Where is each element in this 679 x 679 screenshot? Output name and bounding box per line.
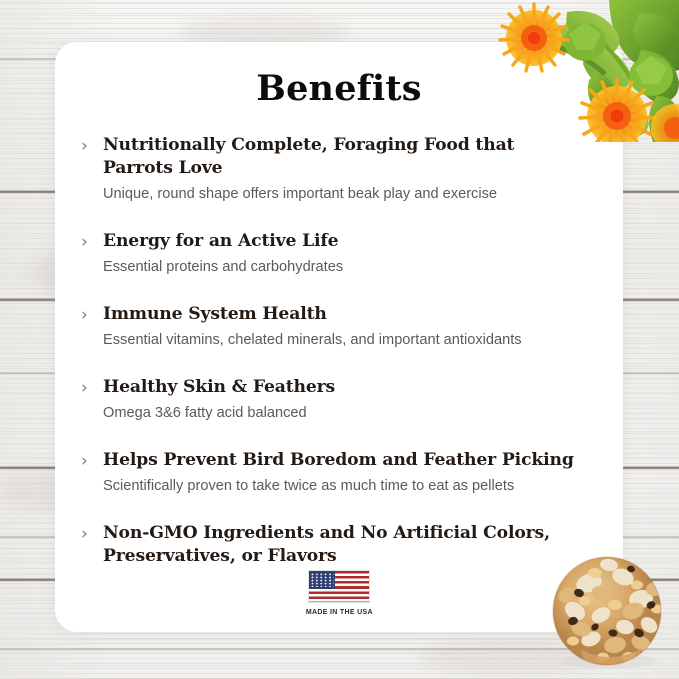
safflower-blossoms-image — [489, 0, 679, 142]
benefit-heading: Non-GMO Ingredients and No Artificial Co… — [103, 522, 589, 568]
list-item: › Immune System Health Essential vitamin… — [81, 303, 589, 350]
list-item: › Helps Prevent Bird Boredom and Feather… — [81, 449, 589, 496]
chevron-right-icon: › — [81, 522, 103, 544]
benefit-subtext: Essential vitamins, chelated minerals, a… — [103, 330, 589, 350]
benefit-subtext: Scientifically proven to take twice as m… — [103, 476, 589, 496]
benefit-heading: Energy for an Active Life — [103, 230, 589, 253]
us-flag-icon — [308, 570, 370, 603]
safflower-flower — [500, 4, 568, 71]
benefit-subtext: Omega 3&6 fatty acid balanced — [103, 403, 589, 423]
made-in-usa-badge: MADE IN THE USA — [55, 570, 623, 616]
benefit-heading: Helps Prevent Bird Boredom and Feather P… — [103, 449, 589, 472]
safflower-bud — [629, 56, 673, 96]
flag-canton — [309, 571, 335, 589]
list-item: › Nutritionally Complete, Foraging Food … — [81, 134, 589, 204]
list-item: › Non-GMO Ingredients and No Artificial … — [81, 522, 589, 568]
flag-stars — [311, 573, 334, 588]
benefit-heading: Immune System Health — [103, 303, 589, 326]
chevron-right-icon: › — [81, 376, 103, 398]
foraging-food-ball-image — [545, 549, 673, 673]
benefits-list: › Nutritionally Complete, Foraging Food … — [55, 134, 623, 568]
benefit-subtext: Unique, round shape offers important bea… — [103, 184, 589, 204]
made-in-usa-caption: MADE IN THE USA — [306, 607, 373, 616]
chevron-right-icon: › — [81, 449, 103, 471]
list-item: › Healthy Skin & Feathers Omega 3&6 fatt… — [81, 376, 589, 423]
benefit-heading: Healthy Skin & Feathers — [103, 376, 589, 399]
chevron-right-icon: › — [81, 230, 103, 252]
chevron-right-icon: › — [81, 134, 103, 156]
benefit-subtext: Essential proteins and carbohydrates — [103, 257, 589, 277]
chevron-right-icon: › — [81, 303, 103, 325]
list-item: › Energy for an Active Life Essential pr… — [81, 230, 589, 277]
